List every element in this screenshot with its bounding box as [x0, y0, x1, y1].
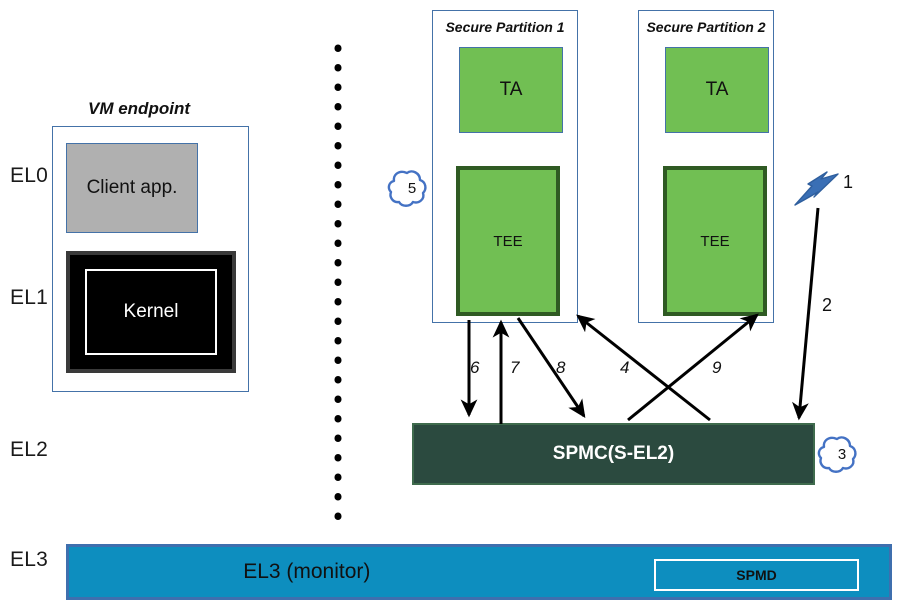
level-label-el3: EL3 — [10, 548, 48, 572]
lightning-bolt-icon — [795, 172, 838, 205]
spmd-label: SPMD — [736, 567, 776, 583]
arrow-label-9: 9 — [712, 358, 721, 378]
arrow-9 — [628, 315, 757, 420]
level-label-el2: EL2 — [10, 438, 48, 462]
sp1-ta-label: TA — [500, 79, 523, 101]
kernel-label: Kernel — [124, 301, 179, 323]
arrow-8 — [518, 318, 584, 416]
arrow-label-4: 4 — [620, 358, 629, 378]
kernel-box[interactable]: Kernel — [66, 251, 236, 373]
spmd-box[interactable]: SPMD — [654, 559, 859, 591]
sp1-tee-box[interactable]: TEE — [456, 166, 560, 316]
level-label-el1: EL1 — [10, 286, 48, 310]
sp2-ta-label: TA — [706, 79, 729, 101]
sp2-tee-label: TEE — [700, 233, 729, 250]
sp1-tee-label: TEE — [493, 233, 522, 250]
secure-partition-1-title: Secure Partition 1 — [433, 19, 577, 35]
cloud-5-label: 5 — [404, 180, 420, 197]
arrow-4 — [578, 316, 710, 420]
arrow-2 — [799, 208, 818, 418]
arrow-label-6: 6 — [470, 358, 479, 378]
diagram-canvas: EL0 EL1 EL2 EL3 VM endpoint Client app. … — [0, 0, 902, 608]
sp2-ta-box[interactable]: TA — [665, 47, 769, 133]
spmc-box[interactable]: SPMC(S-EL2) — [412, 423, 815, 485]
vm-endpoint-title: VM endpoint — [88, 99, 190, 119]
arrow-label-8: 8 — [556, 358, 565, 378]
spmc-label: SPMC(S-EL2) — [553, 443, 674, 465]
bolt-label-1: 1 — [843, 172, 853, 193]
sp2-tee-box[interactable]: TEE — [663, 166, 767, 316]
client-app-box[interactable]: Client app. — [66, 143, 198, 233]
level-label-el0: EL0 — [10, 164, 48, 188]
secure-partition-2-title: Secure Partition 2 — [639, 19, 773, 35]
el3-monitor-label: EL3 (monitor) — [243, 560, 370, 584]
arrow-label-7: 7 — [510, 358, 519, 378]
client-app-label: Client app. — [87, 177, 178, 199]
el3-monitor-band[interactable]: EL3 (monitor) SPMD — [66, 544, 892, 600]
sp1-ta-box[interactable]: TA — [459, 47, 563, 133]
cloud-3-label: 3 — [834, 446, 850, 463]
arrow-label-2: 2 — [822, 295, 832, 316]
kernel-inner-frame: Kernel — [85, 269, 218, 356]
